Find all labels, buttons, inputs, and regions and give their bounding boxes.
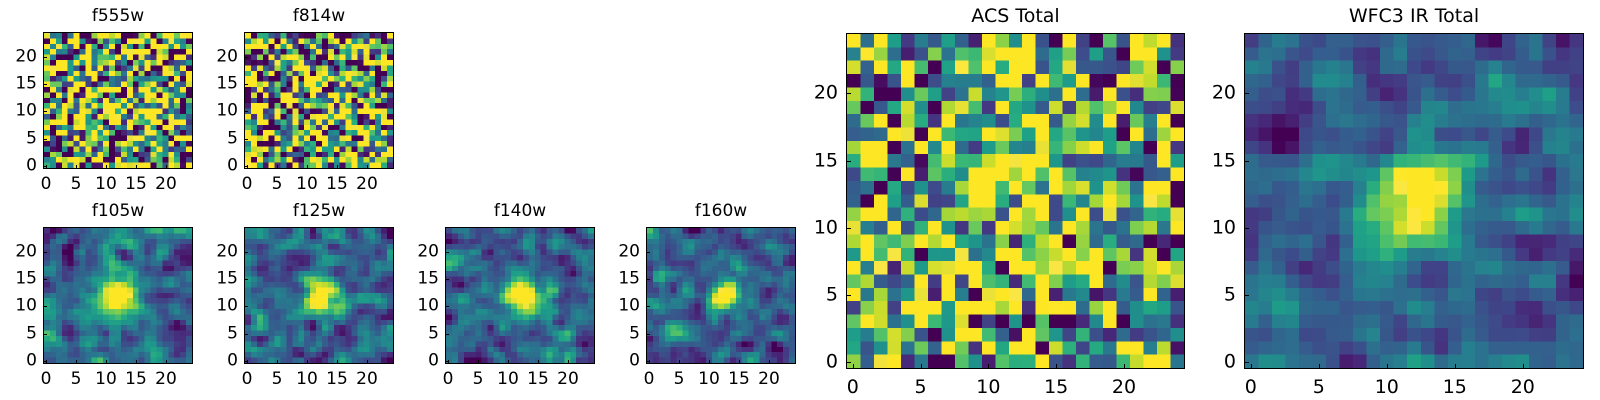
y-tick-label: 15 — [606, 271, 640, 288]
x-tick — [1251, 364, 1252, 369]
y-tick-label: 5 — [1202, 286, 1236, 305]
y-tick — [1244, 161, 1249, 162]
y-tick — [1244, 362, 1249, 363]
y-tick — [43, 84, 47, 85]
x-tick-label: 10 — [95, 371, 117, 388]
x-tick-label: 20 — [356, 176, 378, 193]
x-tick-label: 15 — [125, 371, 147, 388]
x-tick-label: 15 — [1044, 378, 1068, 397]
x-tick — [1056, 364, 1057, 369]
x-tick-label: 5 — [71, 176, 82, 193]
y-tick — [244, 166, 248, 167]
y-tick-label: 20 — [804, 84, 838, 103]
x-tick-label: 0 — [847, 378, 859, 397]
image-axes-f125w[interactable] — [244, 227, 394, 364]
x-tick — [307, 165, 308, 169]
x-tick — [478, 360, 479, 364]
x-tick-label: 20 — [155, 176, 177, 193]
heatmap-wfc3-ir-total — [1245, 34, 1583, 368]
y-tick — [646, 279, 650, 280]
y-tick-label: 5 — [204, 325, 238, 342]
y-tick-label: 0 — [1202, 353, 1236, 372]
panel-title-f555w: f555w — [43, 8, 193, 25]
x-tick-label: 0 — [242, 371, 253, 388]
x-tick-label: 10 — [698, 371, 720, 388]
image-axes-acs-total[interactable] — [846, 33, 1185, 369]
x-tick-label: 5 — [473, 371, 484, 388]
y-tick-label: 0 — [804, 353, 838, 372]
x-tick-label: 20 — [1112, 378, 1136, 397]
y-tick-label: 10 — [3, 103, 37, 120]
y-tick — [846, 93, 851, 94]
y-tick-label: 0 — [204, 353, 238, 370]
panel-title-f125w: f125w — [244, 203, 394, 220]
y-tick — [244, 361, 248, 362]
x-tick-label: 15 — [1443, 378, 1467, 397]
x-tick-label: 0 — [41, 371, 52, 388]
y-tick-label: 15 — [804, 151, 838, 170]
y-tick-label: 15 — [204, 271, 238, 288]
y-tick — [43, 252, 47, 253]
x-tick — [307, 360, 308, 364]
x-tick — [1455, 364, 1456, 369]
heatmap-f160w — [647, 228, 795, 363]
x-tick — [367, 165, 368, 169]
y-tick — [1244, 295, 1249, 296]
x-tick — [1523, 364, 1524, 369]
heatmap-f140w — [446, 228, 594, 363]
x-tick-label: 0 — [644, 371, 655, 388]
x-tick — [709, 360, 710, 364]
y-tick — [244, 111, 248, 112]
x-tick — [367, 360, 368, 364]
panel-wfc3-ir-total: WFC3 IR Total 0510152005101520 — [1190, 0, 1600, 400]
x-tick — [166, 165, 167, 169]
figure-canvas: f555w 0510152005101520 f814w 05101520051… — [0, 0, 1600, 400]
y-tick — [244, 84, 248, 85]
panel-f555w: f555w 0510152005101520 — [0, 0, 230, 195]
y-tick — [244, 57, 248, 58]
y-tick-label: 10 — [804, 218, 838, 237]
y-tick — [43, 334, 47, 335]
heatmap-f814w — [245, 33, 393, 168]
y-tick-label: 20 — [606, 243, 640, 260]
y-tick — [43, 166, 47, 167]
y-tick-label: 20 — [3, 243, 37, 260]
x-tick-label: 10 — [976, 378, 1000, 397]
heatmap-f125w — [245, 228, 393, 363]
image-axes-f105w[interactable] — [43, 227, 193, 364]
x-tick-label: 5 — [272, 371, 283, 388]
panel-f125w: f125w 0510152005101520 — [201, 195, 431, 400]
y-tick — [846, 161, 851, 162]
y-tick — [646, 252, 650, 253]
x-tick-label: 10 — [296, 371, 318, 388]
image-axes-f140w[interactable] — [445, 227, 595, 364]
panel-title-f140w: f140w — [445, 203, 595, 220]
x-tick — [1124, 364, 1125, 369]
panel-f814w: f814w 0510152005101520 — [201, 0, 431, 195]
y-tick — [244, 334, 248, 335]
x-tick — [106, 165, 107, 169]
x-tick-label: 15 — [326, 371, 348, 388]
x-tick — [739, 360, 740, 364]
x-tick — [1319, 364, 1320, 369]
y-tick-label: 20 — [204, 243, 238, 260]
x-tick-label: 5 — [674, 371, 685, 388]
image-axes-f160w[interactable] — [646, 227, 796, 364]
x-tick-label: 20 — [1511, 378, 1535, 397]
x-tick — [277, 360, 278, 364]
y-tick-label: 10 — [405, 298, 439, 315]
y-tick-label: 0 — [606, 353, 640, 370]
x-tick — [769, 360, 770, 364]
y-tick — [244, 279, 248, 280]
y-tick-label: 15 — [3, 76, 37, 93]
y-tick-label: 10 — [3, 298, 37, 315]
y-tick — [445, 306, 449, 307]
x-tick — [337, 165, 338, 169]
y-tick — [244, 252, 248, 253]
x-tick — [988, 364, 989, 369]
x-tick — [568, 360, 569, 364]
x-tick-label: 0 — [443, 371, 454, 388]
x-tick-label: 15 — [527, 371, 549, 388]
y-tick-label: 10 — [1202, 218, 1236, 237]
x-tick-label: 5 — [915, 378, 927, 397]
image-axes-wfc3-ir-total[interactable] — [1244, 33, 1584, 369]
heatmap-acs-total — [847, 34, 1184, 368]
y-tick-label: 0 — [3, 353, 37, 370]
x-tick — [508, 360, 509, 364]
x-tick-label: 0 — [242, 176, 253, 193]
y-tick — [445, 252, 449, 253]
y-tick — [846, 228, 851, 229]
y-tick — [1244, 228, 1249, 229]
y-tick-label: 15 — [1202, 151, 1236, 170]
x-tick-label: 15 — [125, 176, 147, 193]
x-tick — [538, 360, 539, 364]
y-tick-label: 5 — [3, 325, 37, 342]
y-tick — [43, 57, 47, 58]
y-tick-label: 5 — [606, 325, 640, 342]
panel-title-wfc3-ir-total: WFC3 IR Total — [1244, 7, 1584, 26]
y-tick — [244, 139, 248, 140]
x-tick — [337, 360, 338, 364]
y-tick — [43, 139, 47, 140]
y-tick — [1244, 93, 1249, 94]
y-tick-label: 15 — [405, 271, 439, 288]
y-tick — [43, 306, 47, 307]
x-tick-label: 5 — [1313, 378, 1325, 397]
y-tick-label: 10 — [204, 298, 238, 315]
panel-title-f105w: f105w — [43, 203, 193, 220]
x-tick — [853, 364, 854, 369]
x-tick-label: 10 — [296, 176, 318, 193]
x-tick-label: 20 — [155, 371, 177, 388]
x-tick-label: 20 — [557, 371, 579, 388]
y-tick-label: 10 — [606, 298, 640, 315]
x-tick-label: 5 — [272, 176, 283, 193]
image-axes-f814w[interactable] — [244, 32, 394, 169]
y-tick — [846, 295, 851, 296]
x-tick — [76, 360, 77, 364]
panel-title-f814w: f814w — [244, 8, 394, 25]
x-tick-label: 10 — [1375, 378, 1399, 397]
y-tick-label: 0 — [405, 353, 439, 370]
y-tick — [43, 279, 47, 280]
y-tick — [646, 306, 650, 307]
y-tick-label: 20 — [405, 243, 439, 260]
x-tick-label: 20 — [356, 371, 378, 388]
heatmap-f555w — [44, 33, 192, 168]
y-tick — [43, 111, 47, 112]
x-tick-label: 10 — [497, 371, 519, 388]
y-tick — [445, 361, 449, 362]
y-tick-label: 5 — [405, 325, 439, 342]
x-tick-label: 15 — [728, 371, 750, 388]
image-axes-f555w[interactable] — [43, 32, 193, 169]
y-tick — [646, 334, 650, 335]
y-tick-label: 20 — [3, 48, 37, 65]
panel-acs-total: ACS Total 0510152005101520 — [790, 0, 1200, 400]
panel-f140w: f140w 0510152005101520 — [402, 195, 632, 400]
y-tick-label: 20 — [204, 48, 238, 65]
x-tick-label: 0 — [1245, 378, 1257, 397]
y-tick — [846, 362, 851, 363]
x-tick — [166, 360, 167, 364]
x-tick — [106, 360, 107, 364]
panel-f105w: f105w 0510152005101520 — [0, 195, 230, 400]
y-tick-label: 0 — [204, 158, 238, 175]
x-tick — [679, 360, 680, 364]
x-tick — [277, 165, 278, 169]
y-tick — [646, 361, 650, 362]
x-tick-label: 15 — [326, 176, 348, 193]
x-tick — [136, 360, 137, 364]
panel-title-acs-total: ACS Total — [846, 7, 1185, 26]
x-tick-label: 10 — [95, 176, 117, 193]
x-tick-label: 0 — [41, 176, 52, 193]
x-tick — [136, 165, 137, 169]
y-tick — [445, 334, 449, 335]
y-tick-label: 15 — [204, 76, 238, 93]
y-tick — [445, 279, 449, 280]
y-tick-label: 5 — [804, 286, 838, 305]
x-tick — [76, 165, 77, 169]
x-tick — [921, 364, 922, 369]
x-tick — [1387, 364, 1388, 369]
x-tick-label: 5 — [71, 371, 82, 388]
heatmap-f105w — [44, 228, 192, 363]
y-tick-label: 5 — [204, 130, 238, 147]
x-tick-label: 20 — [758, 371, 780, 388]
y-tick — [43, 361, 47, 362]
y-tick-label: 5 — [3, 130, 37, 147]
y-tick — [244, 306, 248, 307]
y-tick-label: 10 — [204, 103, 238, 120]
y-tick-label: 20 — [1202, 84, 1236, 103]
y-tick-label: 15 — [3, 271, 37, 288]
y-tick-label: 0 — [3, 158, 37, 175]
panel-title-f160w: f160w — [646, 203, 796, 220]
